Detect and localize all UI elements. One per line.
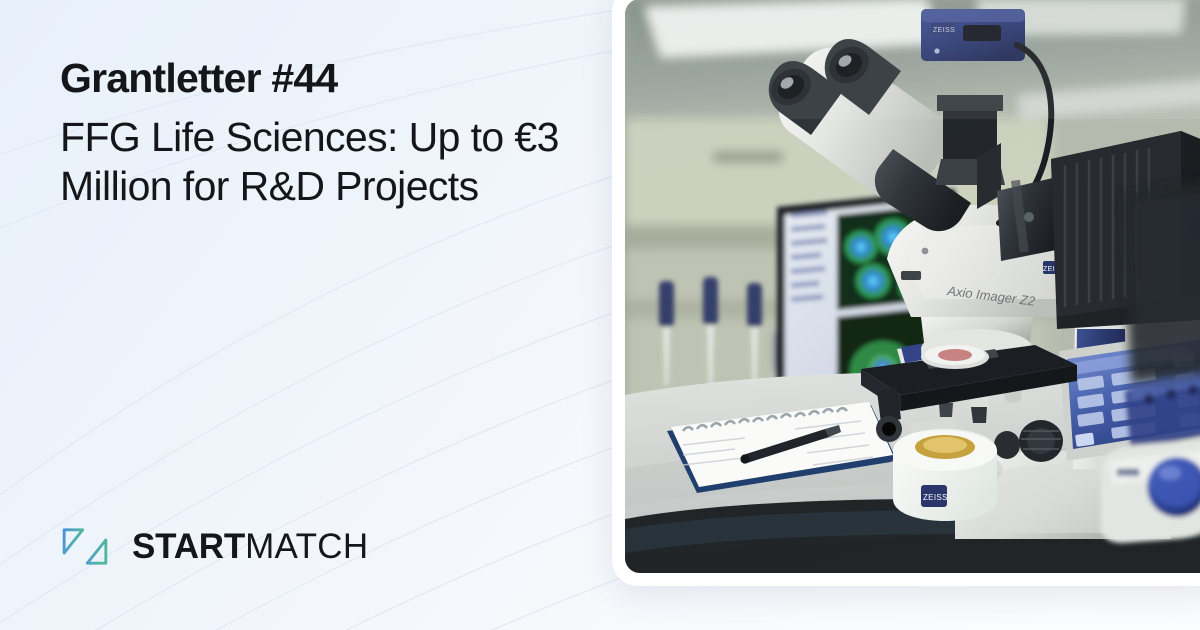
left-content-pane: Grantletter #44 FFG Life Sciences: Up to… (0, 0, 625, 630)
photo-frame: AXIO ZEISS Axio Imager Z2 (625, 0, 1200, 573)
headline: FFG Life Sciences: Up to €3 Million for … (60, 113, 570, 211)
startmatch-m-mark-icon (60, 524, 110, 569)
laboratory-microscope-photo: AXIO ZEISS Axio Imager Z2 (625, 0, 1200, 573)
startmatch-wordmark: START MATCH (132, 529, 368, 564)
title-block: Grantletter #44 FFG Life Sciences: Up to… (60, 56, 605, 211)
newsletter-banner: Grantletter #44 FFG Life Sciences: Up to… (0, 0, 1200, 630)
logo-word-start: START (132, 529, 245, 564)
logo-word-match: MATCH (245, 529, 368, 564)
newsletter-issue-label: Grantletter #44 (60, 56, 605, 102)
photo-card: AXIO ZEISS Axio Imager Z2 (612, 0, 1200, 586)
startmatch-logo[interactable]: START MATCH (60, 524, 368, 569)
